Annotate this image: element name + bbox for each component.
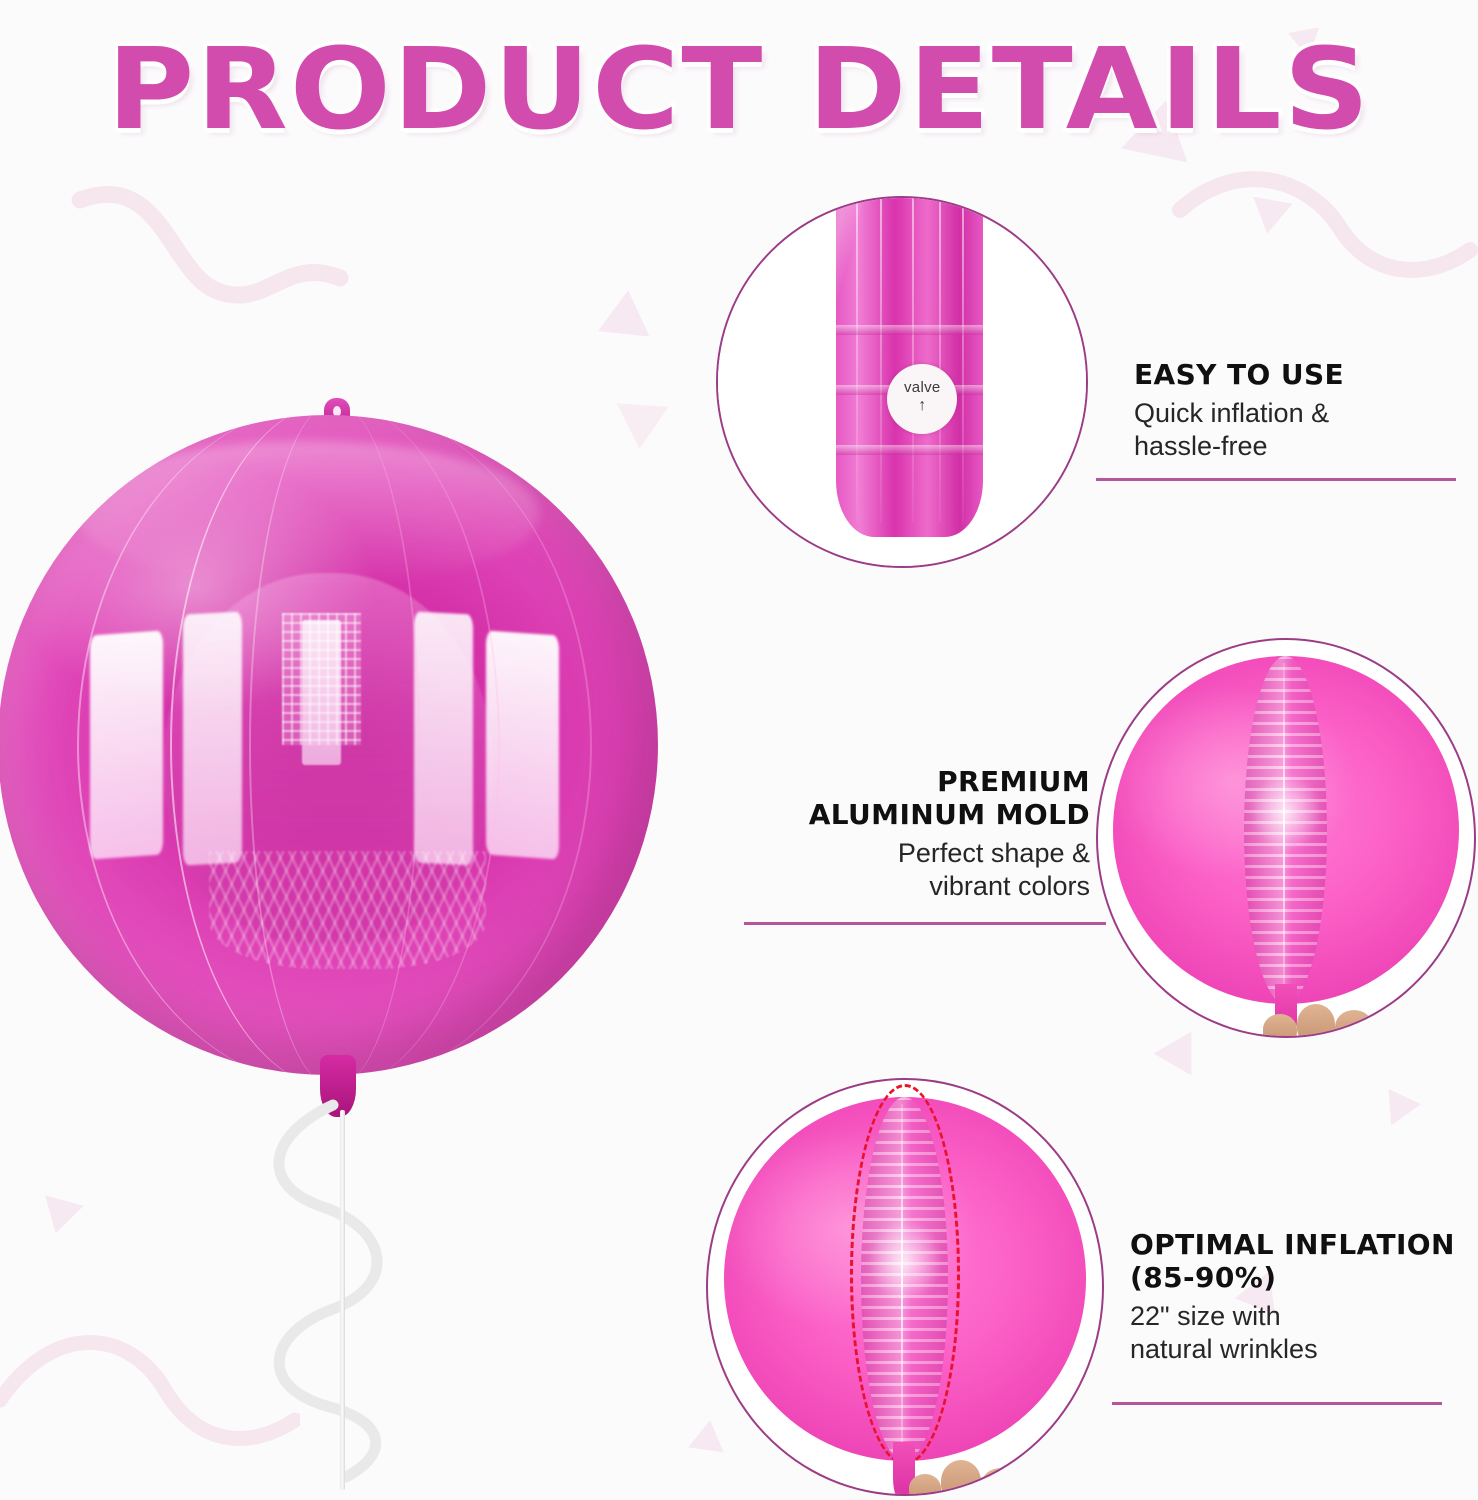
confetti-triangle	[1153, 1032, 1210, 1087]
feature-text-easy-to-use: EASY TO USE Quick inflation & hassle-fre…	[1134, 358, 1464, 463]
foil-seal-band	[836, 445, 983, 455]
wrinkle-highlight-ellipse	[850, 1084, 960, 1465]
feature-heading-premium-aluminum-mold: PREMIUM ALUMINUM MOLD	[740, 765, 1090, 831]
molded-balloon-photo	[1098, 640, 1474, 1036]
confetti-triangle	[1375, 1089, 1421, 1133]
valve-arrow-icon: ↑	[918, 398, 926, 414]
feature-body-easy-to-use: Quick inflation & hassle-free	[1134, 397, 1464, 463]
finger	[909, 1474, 941, 1496]
foil-fold-line	[939, 197, 941, 522]
main-balloon-sphere	[0, 415, 658, 1075]
wrinkled-balloon-photo	[708, 1080, 1102, 1494]
valve-closeup-photo: valve ↑	[718, 198, 1086, 566]
ribbon-curl-decoration	[1170, 150, 1478, 380]
feature-photo-optimal-inflation	[706, 1078, 1104, 1496]
foil-fold-line	[912, 197, 914, 522]
feature-text-optimal-inflation: OPTIMAL INFLATION (85-90%) 22" size with…	[1130, 1228, 1474, 1366]
feature-text-premium-aluminum-mold: PREMIUM ALUMINUM MOLD Perfect shape & vi…	[740, 765, 1090, 903]
feature-rule-optimal-inflation	[1112, 1402, 1442, 1405]
curling-ribbon	[238, 1095, 458, 1495]
page-title: PRODUCT DETAILS	[107, 34, 1371, 146]
finger	[1335, 1010, 1373, 1038]
feature-rule-premium-aluminum-mold	[744, 922, 1106, 925]
finger	[1297, 1004, 1335, 1038]
feature-photo-premium-aluminum-mold	[1096, 638, 1476, 1038]
infographic-canvas: PRODUCT DETAILS	[0, 0, 1478, 1500]
balloon-seam-highlight	[1251, 774, 1320, 851]
hand-holding-balloon	[1259, 984, 1399, 1038]
balloon-stick	[340, 1110, 345, 1490]
feature-rule-easy-to-use	[1096, 478, 1456, 481]
feature-body-premium-aluminum-mold: Perfect shape & vibrant colors	[740, 837, 1090, 903]
confetti-triangle	[598, 287, 654, 336]
feature-photo-easy-to-use: valve ↑	[716, 196, 1088, 568]
foil-fold-line	[880, 197, 882, 522]
feature-body-optimal-inflation: 22" size with natural wrinkles	[1130, 1300, 1474, 1366]
finger	[941, 1460, 981, 1496]
valve-sticker: valve ↑	[887, 364, 957, 434]
foil-fold-line	[962, 197, 964, 522]
feature-heading-optimal-inflation: OPTIMAL INFLATION (85-90%)	[1130, 1228, 1474, 1294]
hand-holding-balloon	[907, 1442, 1047, 1496]
foil-fold-line	[856, 197, 858, 522]
main-product-image	[0, 355, 690, 1495]
confetti-triangle	[1247, 197, 1292, 237]
feature-heading-easy-to-use: EASY TO USE	[1134, 358, 1464, 391]
finger	[1019, 1478, 1047, 1496]
balloon-seam-line	[249, 415, 421, 1075]
finger	[1263, 1014, 1297, 1038]
finger	[1369, 1018, 1399, 1038]
page-title-container: PRODUCT DETAILS	[0, 34, 1478, 146]
inflated-4d-balloon	[1113, 656, 1459, 1004]
valve-label: valve	[904, 379, 941, 396]
foil-seal-band	[836, 325, 983, 335]
finger	[981, 1468, 1021, 1496]
